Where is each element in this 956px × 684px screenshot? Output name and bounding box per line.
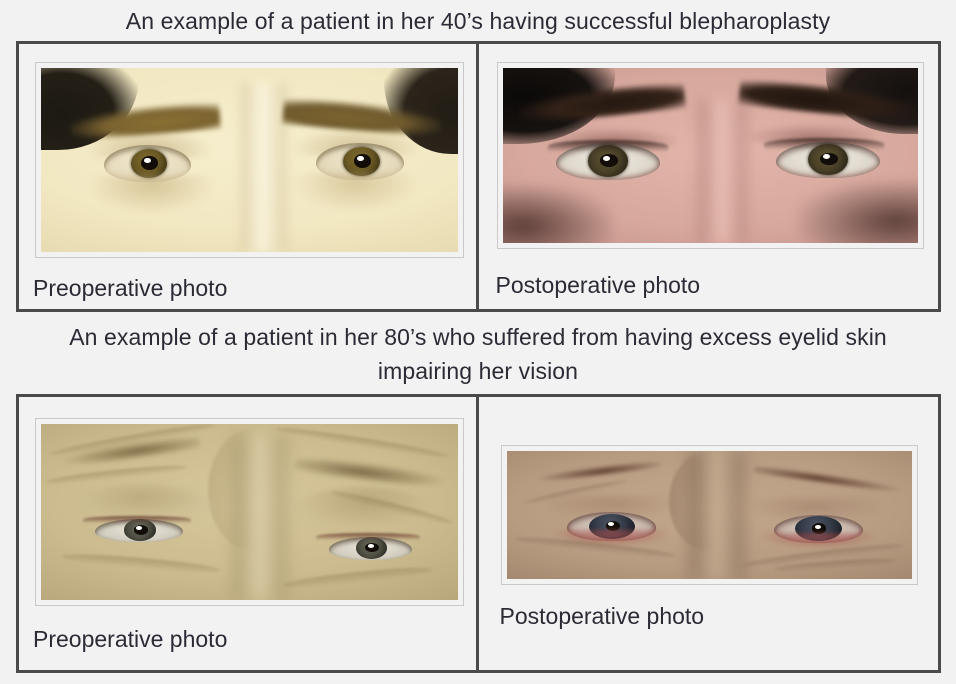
panel-preop-80s: Preoperative photo — [19, 397, 479, 670]
catchlight-left — [144, 158, 151, 164]
photo-frame-postop-40s — [497, 62, 924, 249]
upper-lid-margin-left — [83, 516, 191, 523]
catchlight-right — [368, 544, 374, 548]
cheek-wrinkle-left — [62, 551, 221, 575]
catchlight-right — [815, 525, 821, 529]
photo-preop-40s — [41, 68, 458, 252]
comparison-frame-row-1: Preoperative photo — [16, 41, 941, 312]
nose-bridge-highlight — [698, 100, 748, 244]
eyelash-line-right — [764, 138, 884, 150]
photo-postop-40s — [503, 68, 918, 243]
upper-lid-margin-right — [316, 533, 420, 540]
photo-caption-postop-40s: Postoperative photo — [479, 271, 939, 299]
panel-postop-40s: Postoperative photo — [479, 44, 939, 309]
section-caption-row-1: An example of a patient in her 40’s havi… — [0, 4, 956, 38]
nose-bridge-highlight — [241, 83, 287, 252]
photo-frame-postop-80s — [501, 445, 918, 585]
eyelash-line-left — [548, 140, 668, 152]
panel-postop-80s: Postoperative photo — [479, 397, 939, 670]
eye-right — [329, 537, 412, 560]
photo-frame-preop-40s — [35, 62, 464, 258]
eyebrow-right — [754, 464, 900, 494]
photo-frame-preop-80s — [35, 418, 464, 606]
lower-lid-shadow-left — [87, 175, 216, 215]
eyebrow-right — [295, 454, 446, 490]
blepharoplasty-comparison-page: An example of a patient in her 40’s havi… — [0, 0, 956, 684]
panel-preop-40s: Preoperative photo — [19, 44, 479, 309]
photo-preop-80s — [41, 424, 458, 600]
eyebrow-left — [539, 459, 661, 484]
photo-caption-preop-40s: Preoperative photo — [19, 274, 476, 302]
comparison-frame-row-2: Preoperative photo — [16, 394, 941, 673]
photo-caption-preop-80s: Preoperative photo — [19, 625, 476, 653]
dark-corner-bottom-right — [798, 181, 918, 243]
photo-postop-80s — [507, 451, 912, 579]
photo-caption-postop-80s: Postoperative photo — [479, 602, 939, 630]
glabella-furrow — [669, 451, 750, 551]
catchlight-right — [357, 156, 364, 162]
cheek-wrinkle-right — [283, 564, 433, 590]
lower-lid-shadow-right — [291, 173, 420, 213]
dark-corner-bottom-left — [503, 185, 613, 243]
section-caption-row-2: An example of a patient in her 80’s who … — [28, 320, 928, 388]
